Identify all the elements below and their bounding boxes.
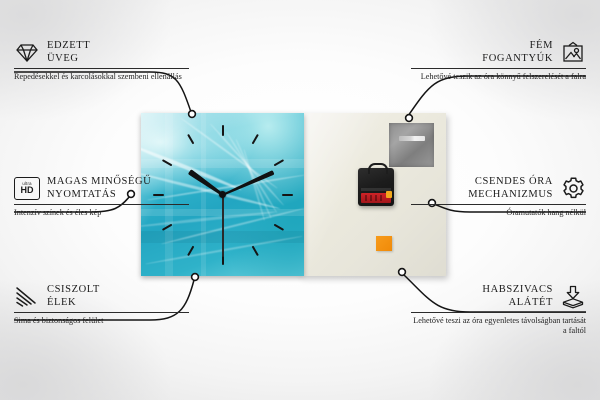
picture-hanger-icon xyxy=(560,41,586,65)
feature-divider xyxy=(14,312,189,313)
product-feature-infographic: EDZETTÜVEG Repedésekkel és karcolásokkal… xyxy=(0,0,600,400)
feature-divider xyxy=(411,68,586,69)
gear-icon xyxy=(560,177,586,201)
diamond-icon xyxy=(14,41,40,65)
feature-divider xyxy=(411,204,586,205)
metal-hanger-plate xyxy=(389,123,434,167)
feature-foam-pad[interactable]: HABSZIVACSALÁTÉT Lehetővé teszi az óra e… xyxy=(411,284,586,336)
clock-tick xyxy=(223,194,293,196)
feature-title: EDZETTÜVEG xyxy=(47,40,90,65)
feature-description: Lehetővé teszik az óra könnyű felszerelé… xyxy=(411,72,586,82)
feature-title: MAGAS MINŐSÉGŰNYOMTATÁS xyxy=(47,176,151,201)
foam-spacer-pad xyxy=(376,236,392,251)
ultra-hd-icon-big-label: HD xyxy=(21,186,34,195)
feature-tempered-glass[interactable]: EDZETTÜVEG Repedésekkel és karcolásokkal… xyxy=(14,40,189,82)
ultra-hd-icon: ultra HD xyxy=(14,177,40,201)
feature-title: HABSZIVACSALÁTÉT xyxy=(482,284,553,309)
feature-divider xyxy=(411,312,586,313)
clock-second-hand xyxy=(222,195,224,257)
feature-description: Óramutatók hang nélkül xyxy=(411,208,586,218)
feature-description: Sima és biztonságos felület xyxy=(14,316,189,326)
feature-title: CSENDES ÓRAMECHANIZMUS xyxy=(468,176,553,201)
feature-description: Repedésekkel és karcolásokkal szembeni e… xyxy=(14,72,189,82)
clock-center-hub xyxy=(219,191,226,198)
quiet-clock-mechanism xyxy=(358,168,394,206)
feature-metal-handles[interactable]: FÉMFOGANTYÚK Lehetővé teszik az óra könn… xyxy=(411,40,586,82)
foam-pad-arrow-icon xyxy=(560,285,586,309)
feature-description: Lehetővé teszi az óra egyenletes távolsá… xyxy=(411,316,586,336)
hanger-slot xyxy=(399,136,425,141)
battery-compartment xyxy=(361,193,391,203)
mechanism-hanging-loop xyxy=(368,163,388,174)
clock-tick xyxy=(222,125,224,195)
feature-high-quality-print[interactable]: ultra HD MAGAS MINŐSÉGŰNYOMTATÁS Intenzí… xyxy=(14,176,189,218)
battery-terminal xyxy=(386,191,392,198)
feature-title: FÉMFOGANTYÚK xyxy=(482,40,553,65)
feature-quiet-mechanism[interactable]: CSENDES ÓRAMECHANIZMUS Óramutatók hang n… xyxy=(411,176,586,218)
feature-polished-edges[interactable]: CSISZOLTÉLEK Sima és biztonságos felület xyxy=(14,284,189,326)
feature-title: CSISZOLTÉLEK xyxy=(47,284,100,309)
feature-divider xyxy=(14,204,189,205)
feature-divider xyxy=(14,68,189,69)
feature-description: Intenzív színek és éles kép xyxy=(14,208,189,218)
polished-edges-icon xyxy=(14,285,40,309)
connector-metal-handles xyxy=(408,76,586,116)
